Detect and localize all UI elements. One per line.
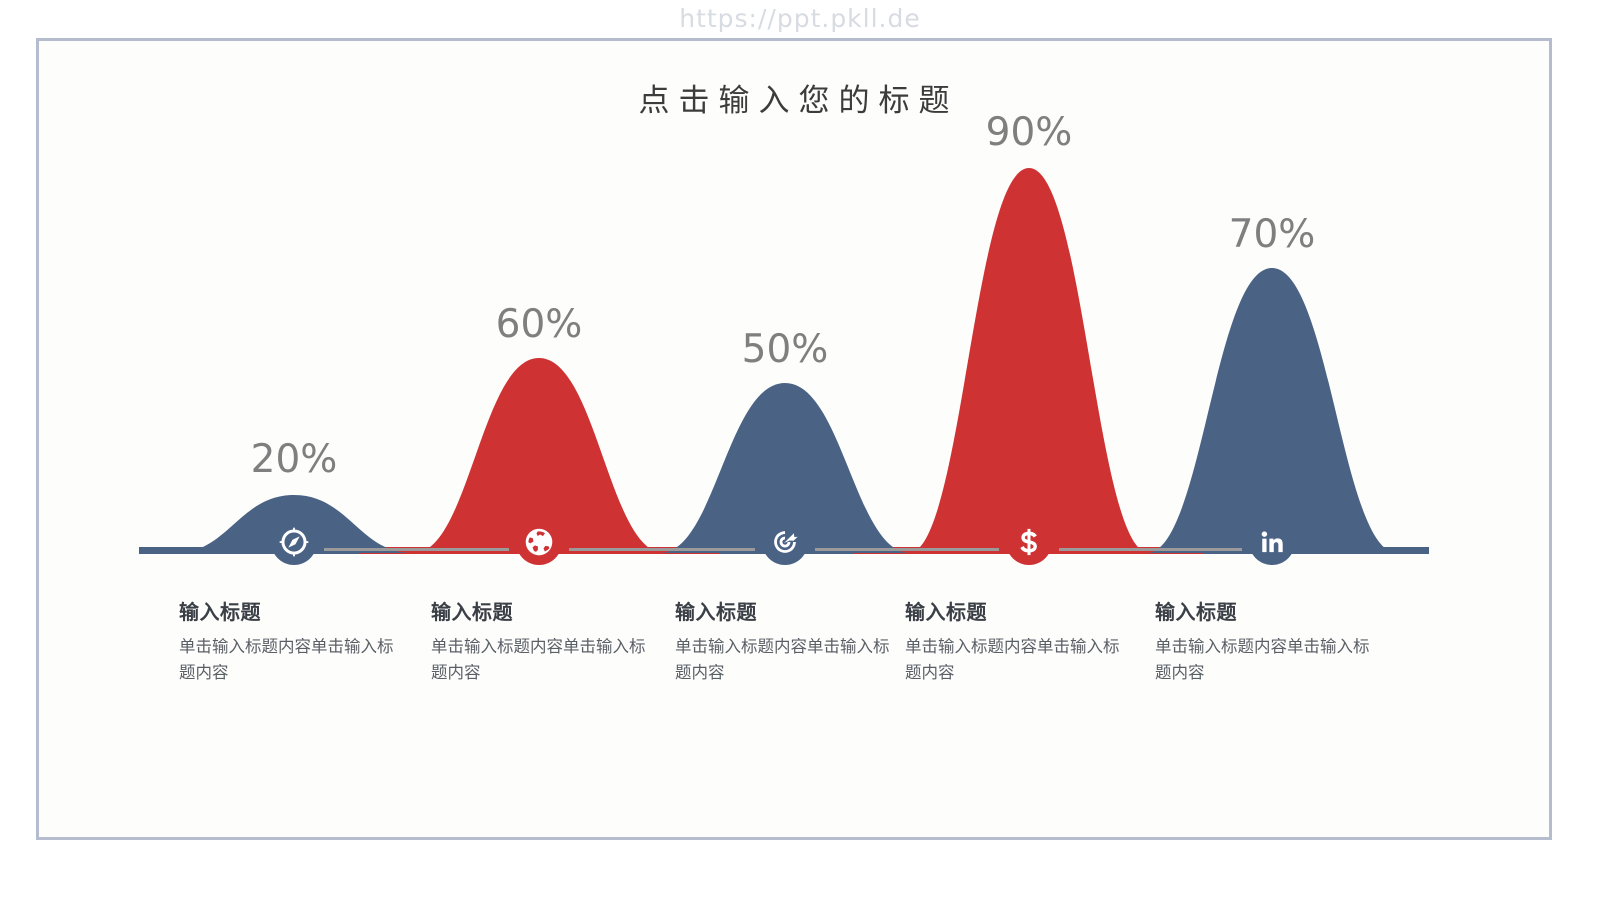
source-url-watermark: https://ppt.pkll.de (0, 4, 1600, 33)
caption-block-2: 输入标题单击输入标题内容单击输入标题内容 (431, 596, 653, 685)
caption-body-4: 单击输入标题内容单击输入标题内容 (905, 634, 1127, 685)
caption-body-3: 单击输入标题内容单击输入标题内容 (675, 634, 897, 685)
page-title: 点击输入您的标题 (39, 75, 1549, 120)
percent-label-3: 50% (742, 327, 829, 372)
timeline-connector-3 (815, 548, 999, 551)
curve-5 (1092, 268, 1429, 553)
timeline-icon-row (39, 519, 1555, 579)
caption-title-2: 输入标题 (431, 596, 653, 625)
caption-block-4: 输入标题单击输入标题内容单击输入标题内容 (905, 596, 1127, 685)
caption-title-1: 输入标题 (179, 596, 401, 625)
timeline-connector-4 (1059, 548, 1242, 551)
caption-block-3: 输入标题单击输入标题内容单击输入标题内容 (675, 596, 897, 685)
caption-block-1: 输入标题单击输入标题内容单击输入标题内容 (179, 596, 401, 685)
globe-icon[interactable] (516, 519, 562, 565)
bell-curve-svg (139, 151, 1429, 563)
caption-body-5: 单击输入标题内容单击输入标题内容 (1155, 634, 1377, 685)
curve-4 (854, 168, 1204, 553)
caption-body-1: 单击输入标题内容单击输入标题内容 (179, 634, 401, 685)
caption-block-5: 输入标题单击输入标题内容单击输入标题内容 (1155, 596, 1377, 685)
caption-title-3: 输入标题 (675, 596, 897, 625)
caption-title-5: 输入标题 (1155, 596, 1377, 625)
percent-label-1: 20% (251, 437, 338, 482)
timeline-connector-2 (569, 548, 755, 551)
caption-body-2: 单击输入标题内容单击输入标题内容 (431, 634, 653, 685)
percent-label-2: 60% (496, 302, 583, 347)
percent-label-5: 70% (1229, 212, 1316, 257)
caption-row: 输入标题单击输入标题内容单击输入标题内容输入标题单击输入标题内容单击输入标题内容… (39, 596, 1555, 796)
linkedin-icon[interactable] (1249, 519, 1295, 565)
target-dart-icon[interactable] (762, 519, 808, 565)
timeline-connector-1 (324, 548, 509, 551)
dollar-icon[interactable] (1006, 519, 1052, 565)
slide-frame: 点击输入您的标题 20%60%50%90%70% 输入标题单击输入标题内容单击输… (36, 38, 1552, 840)
compass-icon[interactable] (271, 519, 317, 565)
caption-title-4: 输入标题 (905, 596, 1127, 625)
